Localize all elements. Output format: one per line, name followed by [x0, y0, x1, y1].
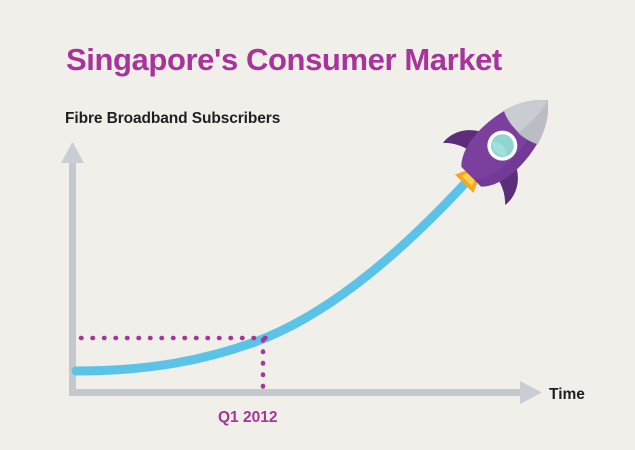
growth-curve-line — [76, 178, 470, 371]
y-axis-line — [69, 160, 76, 396]
marker-label: Q1 2012 — [218, 409, 277, 427]
slide-canvas: Singapore's Consumer Market Fibre Broadb… — [0, 0, 635, 450]
y-axis-arrow-icon — [61, 142, 84, 163]
growth-chart-figure — [0, 0, 635, 450]
x-axis-line — [69, 389, 524, 396]
x-axis-label: Time — [549, 386, 585, 404]
growth-curve — [76, 178, 470, 371]
x-axis-arrow-icon — [520, 381, 542, 404]
